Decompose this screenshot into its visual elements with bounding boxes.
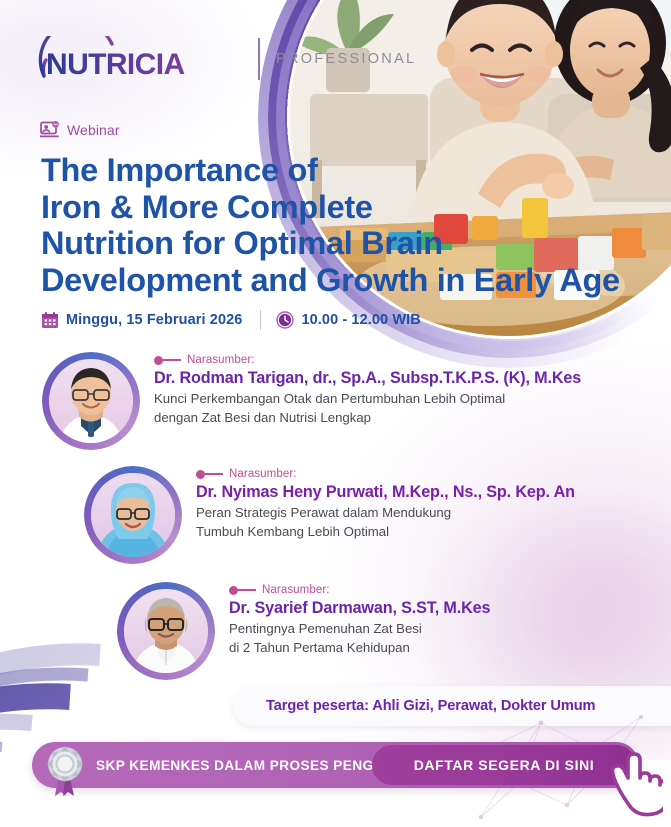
event-date-text: Minggu, 15 Februari 2026 bbox=[66, 312, 242, 328]
title-line-3: Nutrition for Optimal Brain bbox=[41, 225, 649, 262]
speaker-name-2: Dr. Nyimas Heny Purwati, M.Kep., Ns., Sp… bbox=[196, 481, 575, 503]
medal-seal-icon bbox=[44, 744, 86, 798]
speaker-role-3: Narasumber: bbox=[229, 584, 490, 596]
calendar-icon bbox=[41, 311, 59, 329]
footer-cta-bar: SKP KEMENKES DALAM PROSES PENGAJUAN DAFT… bbox=[32, 742, 639, 788]
avatar bbox=[84, 466, 182, 564]
speaker-topic-line1-1: Kunci Perkembangan Otak dan Pertumbuhan … bbox=[154, 390, 581, 408]
event-time-text: 10.00 - 12.00 WIB bbox=[301, 312, 420, 328]
connector-line-icon bbox=[163, 359, 181, 361]
speaker-name-1: Dr. Rodman Tarigan, dr., Sp.A., Subsp.T.… bbox=[154, 367, 581, 389]
speaker-topic-line1-3: Pentingnya Pemenuhan Zat Besi bbox=[229, 620, 490, 638]
speaker-topic-line2-3: di 2 Tahun Pertama Kehidupan bbox=[229, 639, 490, 657]
event-date: Minggu, 15 Februari 2026 bbox=[41, 311, 242, 329]
connector-line-icon bbox=[238, 589, 256, 591]
connector-dot-icon bbox=[229, 586, 238, 595]
hand-pointer-icon bbox=[605, 748, 663, 820]
speaker-topic-line2-1: dengan Zat Besi dan Nutrisi Lengkap bbox=[154, 409, 581, 427]
portrait-illustration-3 bbox=[124, 589, 208, 673]
speaker-topic-line2-2: Tumbuh Kembang Lebih Optimal bbox=[196, 523, 575, 541]
clock-icon bbox=[276, 311, 294, 329]
speaker-info-1: Narasumber: Dr. Rodman Tarigan, dr., Sp.… bbox=[154, 352, 581, 426]
register-button[interactable]: DAFTAR SEGERA DI SINI bbox=[372, 745, 636, 785]
connector-dot-icon bbox=[196, 470, 205, 479]
speaker-role-1: Narasumber: bbox=[154, 354, 581, 366]
portrait-illustration-1 bbox=[49, 359, 133, 443]
speaker-role-label-2: Narasumber: bbox=[229, 468, 297, 480]
speaker-portrait-3 bbox=[124, 589, 208, 673]
page-title: The Importance of Iron & More Complete N… bbox=[41, 152, 649, 298]
title-line-1: The Importance of bbox=[41, 152, 649, 189]
title-line-2: Iron & More Complete bbox=[41, 189, 649, 226]
speaker-portrait-2 bbox=[91, 473, 175, 557]
svg-text:NUTRICIA: NUTRICIA bbox=[46, 48, 185, 81]
connector-line-icon bbox=[205, 473, 223, 475]
speaker-role-label-1: Narasumber: bbox=[187, 354, 255, 366]
speaker-role-label-3: Narasumber: bbox=[262, 584, 330, 596]
speaker-name-3: Dr. Syarief Darmawan, S.ST, M.Kes bbox=[229, 597, 490, 619]
speaker-topic-line1-2: Peran Strategis Perawat dalam Mendukung bbox=[196, 504, 575, 522]
meta-divider bbox=[260, 310, 261, 330]
webinar-badge: Webinar bbox=[40, 121, 120, 139]
target-audience-pill: Target peserta: Ahli Gizi, Perawat, Dokt… bbox=[233, 686, 671, 726]
nutricia-logo: NUTRICIA PROFESSIONAL bbox=[38, 36, 416, 82]
nutricia-wordmark: NUTRICIA bbox=[38, 36, 252, 82]
speaker-info-3: Narasumber: Dr. Syarief Darmawan, S.ST, … bbox=[229, 582, 490, 656]
event-time: 10.00 - 12.00 WIB bbox=[276, 311, 420, 329]
event-meta: Minggu, 15 Februari 2026 10.00 - 12.00 W… bbox=[41, 310, 421, 330]
webinar-screen-icon bbox=[40, 121, 60, 139]
portrait-illustration-2 bbox=[91, 473, 175, 557]
speaker-info-2: Narasumber: Dr. Nyimas Heny Purwati, M.K… bbox=[196, 466, 575, 540]
target-audience-text: Target peserta: Ahli Gizi, Perawat, Dokt… bbox=[266, 698, 595, 714]
speaker-card-3: Narasumber: Dr. Syarief Darmawan, S.ST, … bbox=[117, 582, 490, 680]
speaker-role-2: Narasumber: bbox=[196, 468, 575, 480]
webinar-poster: NUTRICIA PROFESSIONAL Webinar The Import… bbox=[0, 0, 671, 827]
speaker-card-2: Narasumber: Dr. Nyimas Heny Purwati, M.K… bbox=[84, 466, 575, 564]
webinar-label: Webinar bbox=[67, 122, 120, 138]
register-button-label: DAFTAR SEGERA DI SINI bbox=[414, 757, 595, 773]
nutricia-logo-svg: NUTRICIA bbox=[38, 36, 252, 82]
speaker-portrait-1 bbox=[49, 359, 133, 443]
connector-dot-icon bbox=[154, 356, 163, 365]
avatar bbox=[117, 582, 215, 680]
logo-divider bbox=[258, 38, 260, 80]
avatar bbox=[42, 352, 140, 450]
speaker-card-1: Narasumber: Dr. Rodman Tarigan, dr., Sp.… bbox=[42, 352, 581, 450]
title-line-4: Development and Growth in Early Age bbox=[41, 262, 649, 299]
logo-professional-label: PROFESSIONAL bbox=[276, 51, 416, 67]
